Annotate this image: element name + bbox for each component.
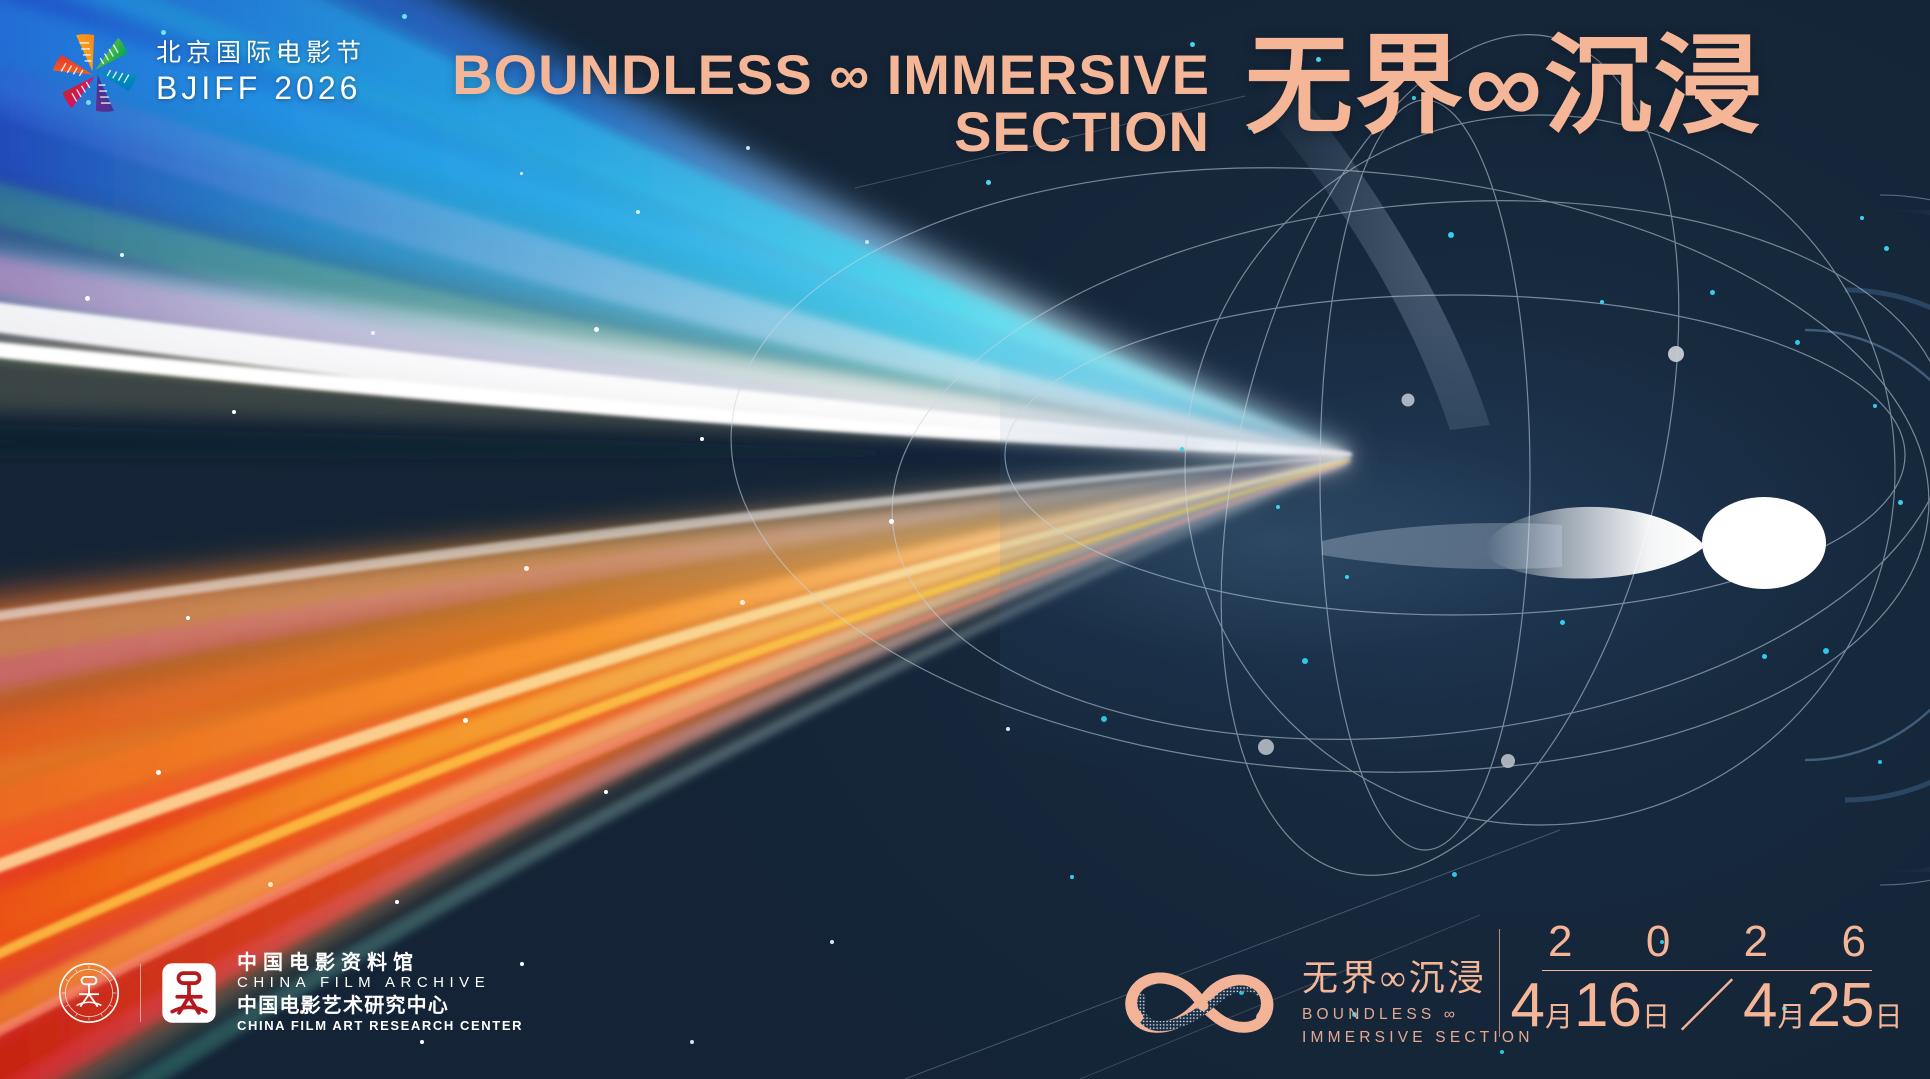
bjiff-pinwheel-logo (52, 30, 138, 116)
festival-dates: 2 0 2 6 4 月 16 日 ／ 4 月 25 日 (1542, 920, 1872, 1038)
start-month-label: 月 (1544, 1003, 1574, 1031)
poster-title-english: BOUNDLESS ∞ IMMERSIVE SECTION (390, 46, 1210, 160)
partner-name-en-1: CHINA FILM ARCHIVE (237, 975, 523, 992)
end-day-number: 25 (1807, 975, 1874, 1037)
year-digit-1: 2 (1548, 920, 1572, 964)
festival-date-range: 4 月 16 日 ／ 4 月 25 日 (1542, 975, 1872, 1037)
infinity-ribbon-logo (1118, 957, 1288, 1049)
partner-logos-lockup: 中国电影资料馆 CHINA FILM ARCHIVE 中国电影艺术研究中心 CH… (58, 952, 523, 1034)
china-film-archive-seal (58, 962, 120, 1024)
start-month-number: 4 (1511, 975, 1544, 1037)
poster-canvas: 北京国际电影节 BJIFF 2026 BOUNDLESS ∞ IMMERSIVE… (0, 0, 1930, 1079)
bjiff-logo-lockup: 北京国际电影节 BJIFF 2026 (52, 30, 366, 116)
bjiff-name-en: BJIFF 2026 (156, 71, 366, 106)
start-day-label: 日 (1641, 1003, 1671, 1031)
poster-header: 北京国际电影节 BJIFF 2026 BOUNDLESS ∞ IMMERSIVE… (0, 0, 1930, 185)
date-range-separator: ／ (1671, 979, 1743, 1035)
poster-title-chinese: 无界∞沉浸 (1245, 32, 1764, 140)
title-en-line-2: SECTION (390, 103, 1210, 160)
partner-wordmark: 中国电影资料馆 CHINA FILM ARCHIVE 中国电影艺术研究中心 CH… (237, 952, 523, 1034)
year-digit-3: 2 (1744, 920, 1768, 964)
year-digit-2: 0 (1646, 920, 1670, 964)
bjiff-name-cn: 北京国际电影节 (156, 40, 366, 67)
partner-name-cn-1: 中国电影资料馆 (237, 952, 523, 974)
bjiff-wordmark: 北京国际电影节 BJIFF 2026 (156, 40, 366, 106)
end-day-label: 日 (1873, 1003, 1903, 1031)
festival-year: 2 0 2 6 (1542, 920, 1872, 970)
year-digit-4: 6 (1841, 920, 1865, 964)
china-film-archive-mark (161, 962, 217, 1024)
title-en-line-1: BOUNDLESS ∞ IMMERSIVE (390, 46, 1210, 103)
start-day-number: 16 (1574, 975, 1641, 1037)
partner-name-en-2: CHINA FILM ART RESEARCH CENTER (237, 1019, 523, 1034)
date-divider (1499, 929, 1501, 1037)
section-logo-lockup: 无界∞沉浸 BOUNDLESS ∞ IMMERSIVE SECTION (1118, 956, 1534, 1049)
end-month-label: 月 (1776, 1003, 1806, 1031)
partner-divider (140, 964, 141, 1022)
partner-name-cn-2: 中国电影艺术研究中心 (237, 995, 523, 1017)
end-month-number: 4 (1743, 975, 1776, 1037)
